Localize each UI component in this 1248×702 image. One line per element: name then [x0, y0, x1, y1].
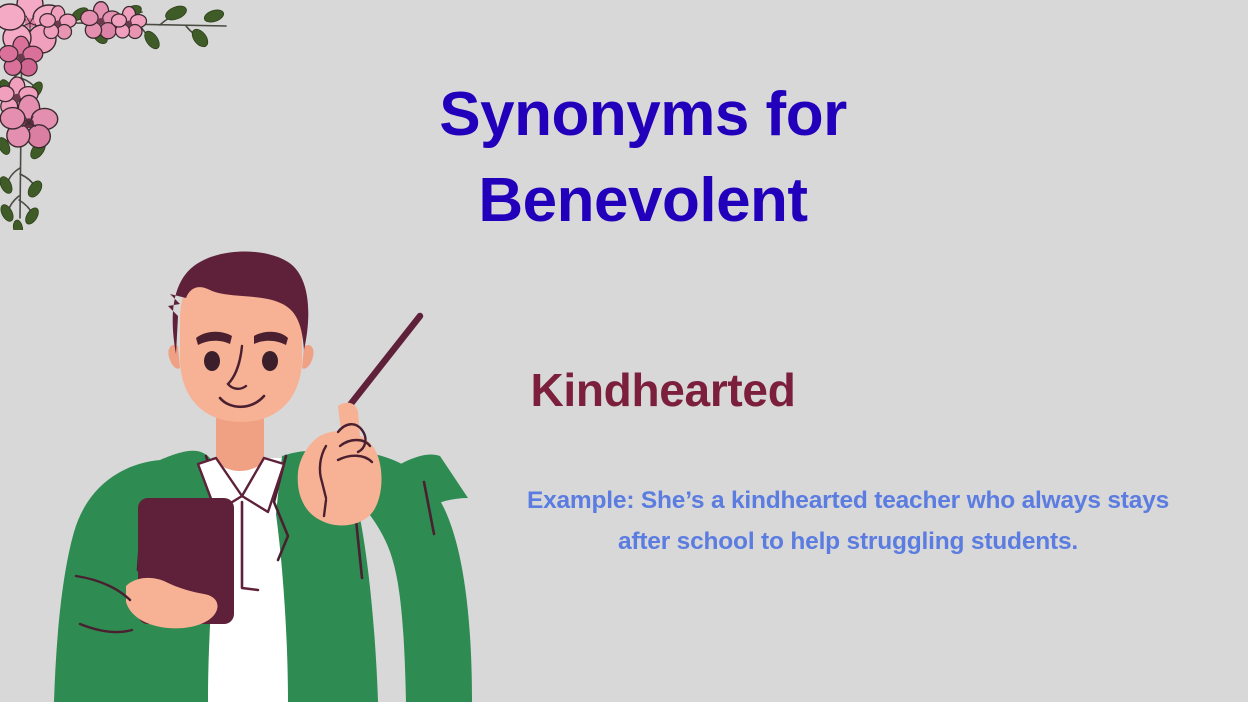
blossom-top-3 [112, 7, 147, 39]
example-sentence-line-2: after school to help struggling students… [448, 521, 1248, 562]
vine-stems [5, 12, 226, 218]
teacher-illustration [20, 250, 490, 702]
page-title-line-2: Benevolent [330, 158, 956, 244]
blossom-top-2 [81, 2, 122, 39]
slide-canvas: Synonyms for Benevolent Kindhearted Exam… [0, 0, 1248, 702]
synonym-block: Kindhearted [440, 365, 886, 416]
pointer-stick [346, 316, 420, 410]
raised-hand [298, 403, 382, 526]
vine-leaves [0, 3, 225, 230]
example-block: Example: She’s a kindhearted teacher who… [448, 480, 1248, 562]
blossom-large [0, 0, 65, 53]
example-sentence-line-1: Example: She’s a kindhearted teacher who… [448, 480, 1248, 521]
page-title-line-1: Synonyms for [330, 72, 956, 158]
title-block: Synonyms for Benevolent [330, 72, 956, 243]
synonym-word: Kindhearted [440, 365, 886, 416]
blossom-left-2 [0, 95, 57, 147]
head [168, 252, 314, 423]
blossom-top-1 [40, 6, 76, 39]
blossom-upper-left-small [0, 36, 43, 76]
blossom-left-1 [0, 77, 38, 115]
floral-corner-decoration [0, 0, 240, 230]
